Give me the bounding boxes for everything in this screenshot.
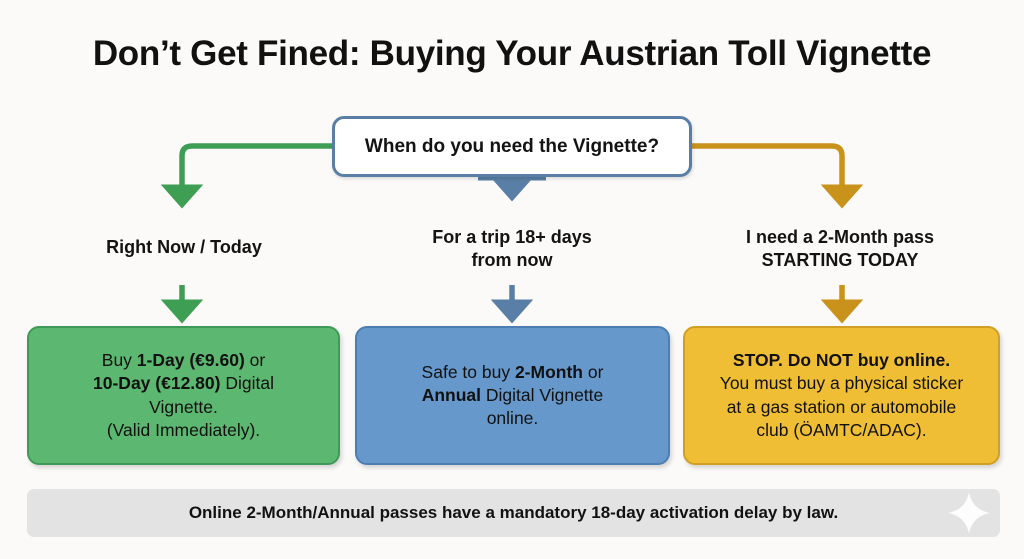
footer-note-banner: Online 2-Month/Annual passes have a mand… [27,489,1000,537]
outcome-box-center[interactable]: Safe to buy 2-Month orAnnual Digital Vig… [355,326,670,465]
outcome-text-center: Safe to buy 2-Month orAnnual Digital Vig… [422,361,604,431]
connector-layer [0,0,1024,559]
decision-node[interactable]: When do you need the Vignette? [332,116,692,177]
decision-question: When do you need the Vignette? [365,136,659,158]
branch-label-right-line1: I need a 2-Month pass [696,226,984,249]
outcome-text-left: Buy 1-Day (€9.60) or10-Day (€12.80) Digi… [93,349,274,442]
branch-label-left-line1: Right Now / Today [40,236,328,259]
connector-elbow-right [692,146,842,203]
outcome-text-right: STOP. Do NOT buy online.You must buy a p… [720,349,964,442]
footer-note-text: Online 2-Month/Annual passes have a mand… [189,503,838,523]
flowchart-canvas: Don’t Get Fined: Buying Your Austrian To… [0,0,1024,559]
branch-label-center-line1: For a trip 18+ days [368,226,656,249]
branch-label-center: For a trip 18+ days from now [368,226,656,272]
outcome-box-left[interactable]: Buy 1-Day (€9.60) or10-Day (€12.80) Digi… [27,326,340,465]
outcome-box-right[interactable]: STOP. Do NOT buy online.You must buy a p… [683,326,1000,465]
branch-label-center-line2: from now [368,249,656,272]
connector-elbow-left [182,146,332,203]
branch-label-right-line2: STARTING TODAY [696,249,984,272]
branch-label-left: Right Now / Today [40,236,328,259]
branch-label-right: I need a 2-Month pass STARTING TODAY [696,226,984,272]
sparkle-icon [946,490,992,536]
